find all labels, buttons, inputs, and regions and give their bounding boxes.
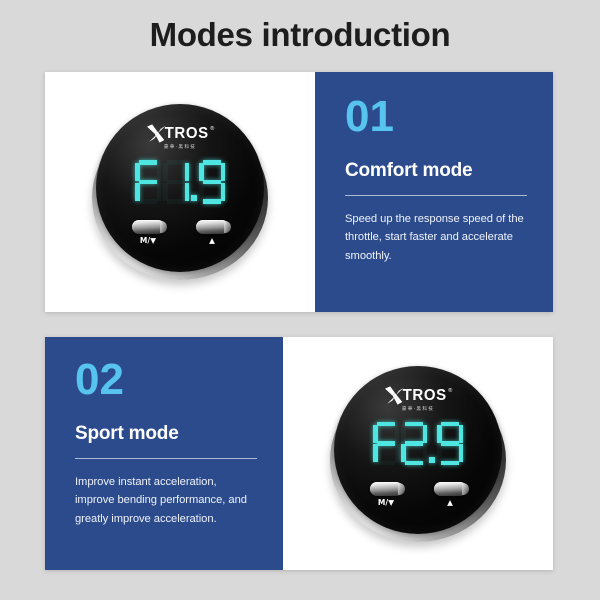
mode-down-button-label: M/▼	[378, 499, 394, 507]
led-display-2	[334, 422, 502, 470]
led-digit-decimal	[437, 422, 463, 466]
mode-heading: Sport mode	[75, 423, 257, 445]
up-button[interactable]: ▲	[192, 220, 232, 245]
mode-down-button-cap[interactable]	[370, 482, 403, 496]
mode-down-button[interactable]: M/▼	[128, 220, 168, 245]
led-digit-f	[135, 160, 161, 204]
mode-heading: Comfort mode	[345, 160, 527, 182]
device-face: TROS ® 豪華·黑科技	[334, 366, 502, 534]
mode-info-panel-comfort: 01 Comfort mode Speed up the response sp…	[315, 72, 553, 312]
led-digit-unit	[401, 422, 427, 466]
led-digit-f	[373, 422, 399, 466]
page-title: Modes introduction	[0, 16, 600, 54]
led-decimal-point	[190, 160, 198, 204]
brand-subtitle: 豪華·黑科技	[402, 406, 434, 412]
up-button-cap[interactable]	[434, 482, 467, 496]
mode-card-sport: 02 Sport mode Improve instant accelerati…	[45, 337, 553, 570]
brand-subtitle: 豪華·黑科技	[164, 144, 196, 150]
mode-description: Speed up the response speed of the throt…	[345, 210, 527, 264]
up-button-label: ▲	[447, 499, 453, 507]
brand-logo: TROS ® 豪華·黑科技	[334, 386, 502, 412]
brand-star-x-icon	[384, 386, 405, 405]
device-button-row-1: M/▼ ▲	[96, 220, 264, 245]
mode-number: 01	[345, 96, 527, 138]
brand-name: TROS	[165, 125, 209, 143]
registered-trademark-icon: ®	[210, 126, 214, 132]
divider	[75, 458, 257, 459]
divider	[345, 195, 527, 196]
mode-card-comfort: TROS ® 豪華·黑科技	[45, 72, 553, 312]
mode-description: Improve instant acceleration, improve be…	[75, 473, 257, 527]
mode-down-button-cap[interactable]	[132, 220, 165, 234]
device-face: TROS ® 豪華·黑科技	[96, 104, 264, 272]
mode-info-panel-sport: 02 Sport mode Improve instant accelerati…	[45, 337, 283, 570]
mode-down-button[interactable]: M/▼	[366, 482, 406, 507]
device-showcase-1: TROS ® 豪華·黑科技	[45, 72, 315, 312]
throttle-controller-device-2[interactable]: TROS ® 豪華·黑科技	[330, 366, 506, 542]
up-button-cap[interactable]	[196, 220, 229, 234]
brand-star-x-icon	[146, 124, 167, 143]
up-button-label: ▲	[209, 237, 215, 245]
throttle-controller-device-1[interactable]: TROS ® 豪華·黑科技	[92, 104, 268, 280]
led-decimal-point	[428, 422, 436, 466]
led-display-1	[96, 160, 264, 208]
registered-trademark-icon: ®	[448, 388, 452, 394]
led-digit-unit	[163, 160, 189, 204]
mode-down-button-label: M/▼	[140, 237, 156, 245]
brand-name: TROS	[403, 386, 447, 404]
up-button[interactable]: ▲	[430, 482, 470, 507]
device-button-row-2: M/▼ ▲	[334, 482, 502, 507]
brand-logo: TROS ® 豪華·黑科技	[96, 124, 264, 150]
device-showcase-2: TROS ® 豪華·黑科技	[283, 337, 553, 570]
led-digit-decimal	[199, 160, 225, 204]
infographic-canvas: Modes introduction	[0, 0, 600, 600]
mode-number: 02	[75, 359, 257, 401]
